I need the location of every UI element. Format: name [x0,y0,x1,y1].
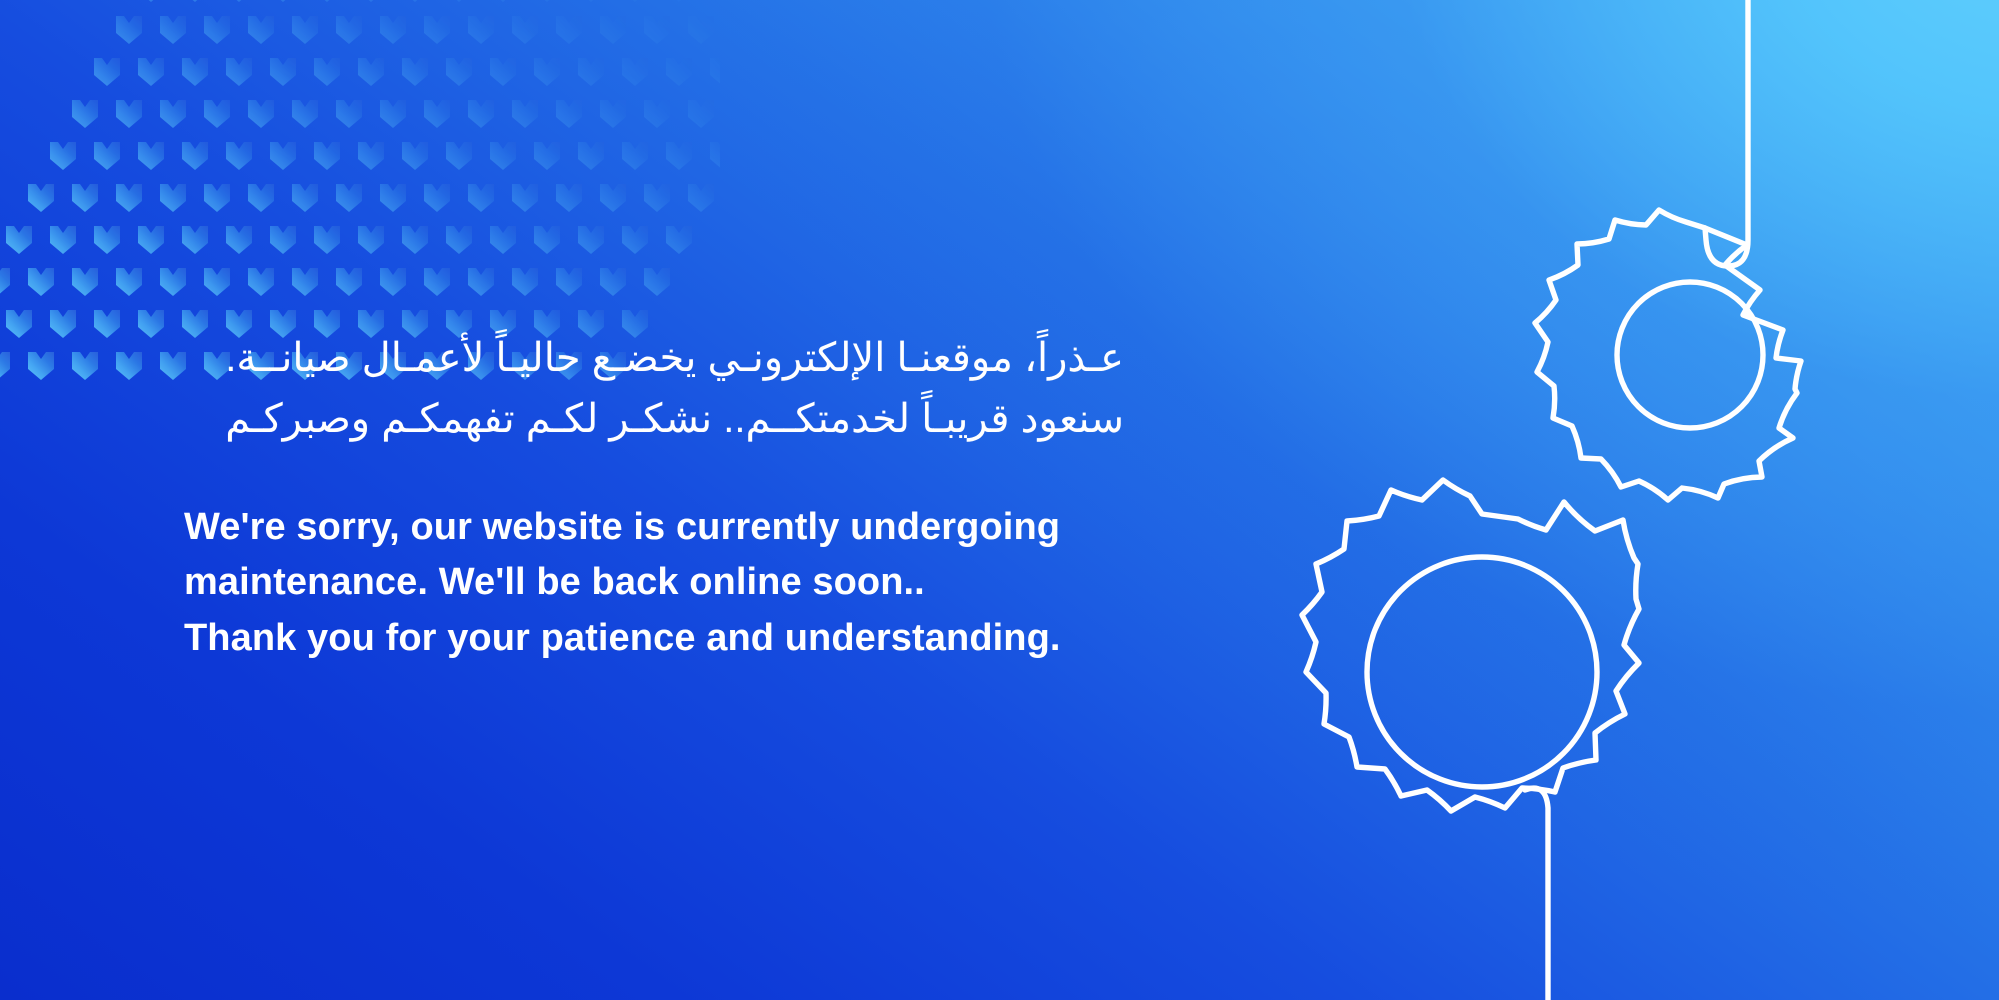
arabic-message-line-1: عـذراً، موقعنـا الإلكترونـي يخضـع حاليـا… [184,330,1124,387]
maintenance-page: عـذراً، موقعنـا الإلكترونـي يخضـع حاليـا… [0,0,1999,1000]
arabic-message: عـذراً، موقعنـا الإلكترونـي يخضـع حاليـا… [184,330,1124,448]
english-message-line-1: We're sorry, our website is currently un… [184,500,1184,555]
message-block: عـذراً، موقعنـا الإلكترونـي يخضـع حاليـا… [184,330,1184,666]
english-message-line-3: Thank you for your patience and understa… [184,611,1184,666]
english-message: We're sorry, our website is currently un… [184,500,1184,666]
arabic-message-line-2: سنعود قريبـاً لخدمتكــم.. نشكـر لكـم تفه… [184,391,1124,448]
english-message-line-2: maintenance. We'll be back online soon.. [184,555,1184,610]
